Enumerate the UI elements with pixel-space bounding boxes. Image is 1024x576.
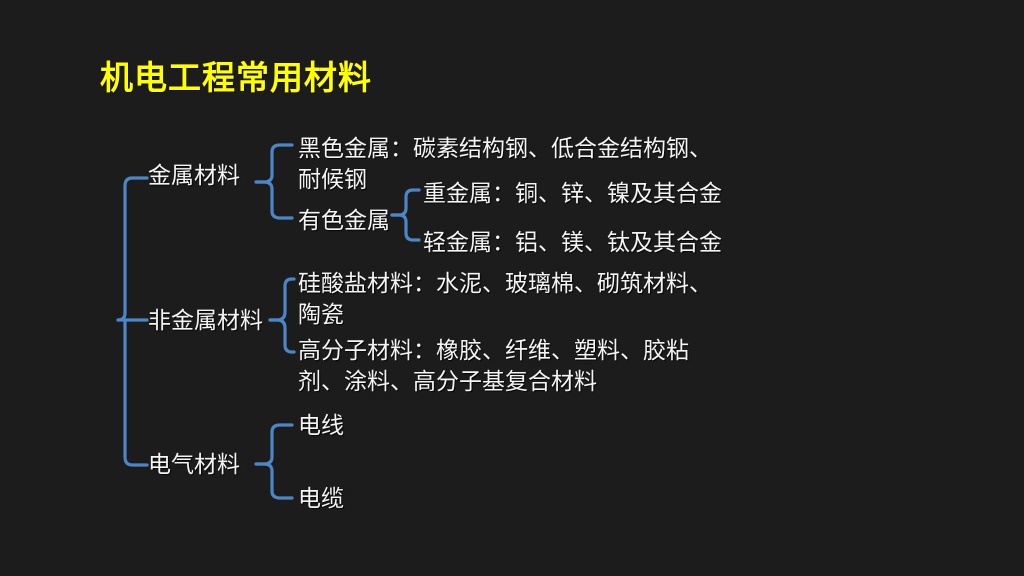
connector-nonferrous-brace-lower [392,215,419,240]
connector-metal-brace [256,145,292,182]
connector-root-stub-mid [118,320,125,327]
slide-canvas: 机电工程常用材料 金属材 [0,0,1024,576]
subleaf-node-heavy-metals[interactable]: 重金属：铜、锌、镍及其合金 [423,178,722,209]
leaf-node-polymer-materials[interactable]: 高分子材料：橡胶、纤维、塑料、胶粘 剂、涂料、高分子基复合材料 [298,335,710,397]
connector-metal-brace-lower [256,182,292,218]
leaf-node-nonferrous-metals[interactable]: 有色金属 [298,205,390,236]
connector-nonmetal-brace-lower [270,320,294,352]
branch-node-metal-materials[interactable]: 金属材料 [148,160,240,191]
mindmap-diagram: 金属材料 非金属材料 电气材料 黑色金属：碳素结构钢、低合金结构钢、 耐候钢 有… [0,0,1024,576]
branch-node-nonmetal-materials[interactable]: 非金属材料 [148,305,263,336]
leaf-node-electric-wire[interactable]: 电线 [298,410,344,441]
connector-electric-brace [256,425,292,464]
subleaf-node-light-metals[interactable]: 轻金属：铝、镁、钛及其合金 [423,227,722,258]
leaf-node-silicate-materials[interactable]: 硅酸盐材料：水泥、玻璃棉、砌筑材料、 陶瓷 [298,268,728,330]
leaf-node-electric-cable[interactable]: 电缆 [298,483,344,514]
connector-electric-brace-lower [256,464,292,498]
connector-nonmetal-brace [270,279,294,320]
branch-node-electric-materials[interactable]: 电气材料 [148,449,240,480]
connector-root-spine [118,178,147,465]
